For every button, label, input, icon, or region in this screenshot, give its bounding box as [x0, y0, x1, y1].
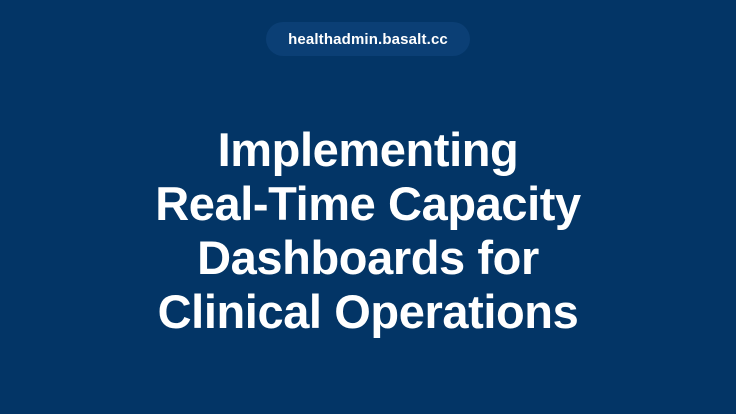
- badge-row: healthadmin.basalt.cc: [0, 22, 736, 56]
- headline-line-1: Implementing: [28, 123, 708, 177]
- headline-line-3: Dashboards for: [28, 231, 708, 285]
- title-slide: healthadmin.basalt.cc Implementing Real-…: [0, 0, 736, 414]
- slide-headline: Implementing Real-Time Capacity Dashboar…: [0, 123, 736, 339]
- headline-line-4: Clinical Operations: [28, 285, 708, 339]
- site-url-badge[interactable]: healthadmin.basalt.cc: [266, 22, 470, 56]
- headline-line-2: Real-Time Capacity: [28, 177, 708, 231]
